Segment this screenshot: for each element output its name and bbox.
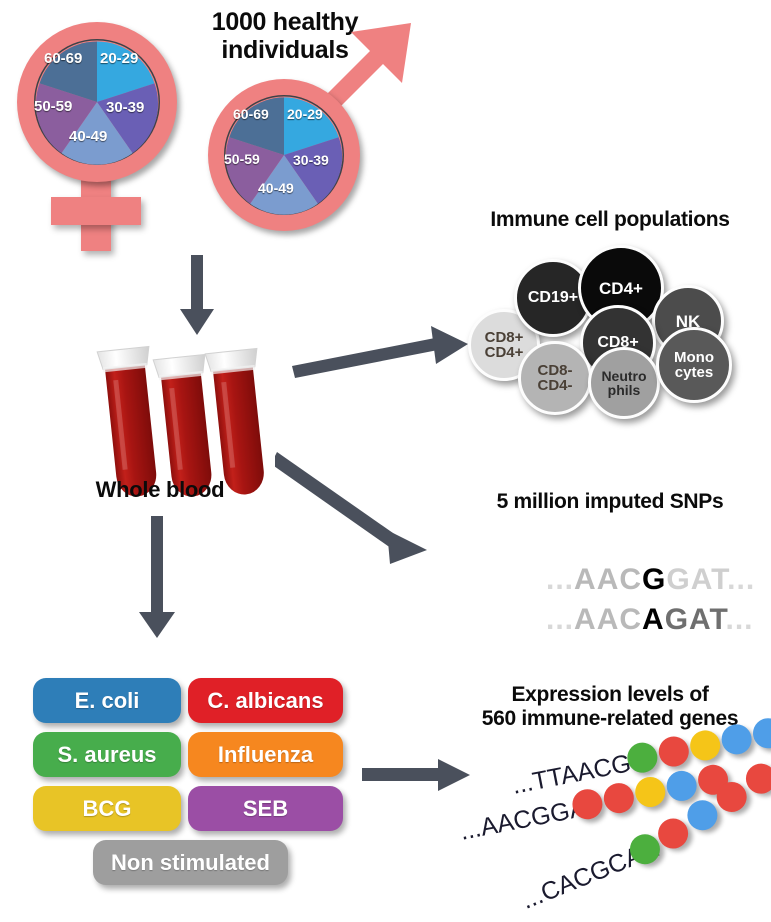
figure-canvas: 1000 healthy individuals 20-29 30-39 40-… [0,0,771,922]
female-wedge-label-20-29: 20-29 [100,50,138,67]
snp2-right: GAT [665,603,726,636]
male-wedge-label-20-29: 20-29 [287,106,323,122]
blood-tube-3 [205,348,272,497]
snp2-prefix: ... [546,603,574,636]
cell-cd19p-label: CD19+ [528,290,578,306]
cell-monocytes-line2: cytes [674,365,714,380]
female-wedge-label-60-69: 60-69 [44,50,82,67]
stimulus-influenza[interactable]: Influenza [188,732,343,777]
male-wedge-label-30-39: 30-39 [293,152,329,168]
expression-strands: ...TTAACGG ...AACGGAT ...CACGCAA [440,740,771,920]
stimulus-non-stimulated[interactable]: Non stimulated [93,840,288,885]
expression-strand-2-bead-2 [601,781,636,816]
snp2-left: AAC [574,603,642,636]
cell-neutrophils-line1: Neutro [601,369,646,383]
stimulus-seb[interactable]: SEB [188,786,343,831]
stimulation-panel: E. coli C. albicans S. aureus Influenza … [33,678,343,893]
snp-sequence-row-2: ...AACAGAT... [490,569,754,671]
female-wedge-label-40-49: 40-49 [69,128,107,145]
female-wedge-label-50-59: 50-59 [34,98,72,115]
cell-cd8n-cd4n-line1: CD8- [537,363,572,378]
expression-strand-1-bead-3 [688,728,723,763]
cell-cd4p-label: CD4+ [599,280,643,297]
male-wedge-label-50-59: 50-59 [224,151,260,167]
cell-neutrophils: Neutro phils [588,347,660,419]
immune-cell-cluster: CD8+ CD4+ CD19+ CD4+ NK CD8+ CD8- CD4- [460,243,760,413]
expression-strand-2-bead-4 [664,768,699,803]
arrow-blood-to-immune [290,322,475,392]
stimulus-s-aureus-label: S. aureus [57,742,156,768]
cell-cd8n-cd4n-line2: CD4- [537,378,572,393]
stimulus-c-albicans-label: C. albicans [207,688,323,714]
female-wedge-label-30-39: 30-39 [106,99,144,116]
expression-strand-2-bead-3 [633,774,668,809]
stimulus-e-coli[interactable]: E. coli [33,678,181,723]
stimulus-bcg[interactable]: BCG [33,786,181,831]
stimulus-influenza-label: Influenza [218,742,313,768]
cell-monocytes: Mono cytes [656,327,732,403]
stimulus-bcg-label: BCG [83,796,132,822]
expression-strand-3-bead-3 [683,796,722,835]
cell-monocytes-line1: Mono [674,350,714,365]
stimulus-e-coli-label: E. coli [75,688,140,714]
female-symbol: 20-29 30-39 40-49 50-59 60-69 [8,10,198,260]
male-wedge-label-40-49: 40-49 [258,180,294,196]
male-wedge-label-60-69: 60-69 [233,106,269,122]
snp-sequence-block: ...AACGGAT... ...AACAGAT... [490,525,740,615]
arrow-blood-to-stimuli [132,516,182,641]
stimulus-non-stimulated-label: Non stimulated [111,850,270,876]
stimulus-c-albicans[interactable]: C. albicans [188,678,343,723]
whole-blood-label: Whole blood [60,478,260,503]
arrow-cohort-to-blood [172,255,222,337]
snp2-suffix: ... [725,603,753,636]
expression-title: Expression levels of 560 immune-related … [450,683,770,730]
cell-cd8p-cd4p-line1: CD8+ [485,330,524,345]
expression-title-line2: 560 immune-related genes [450,707,770,731]
cell-cd8p-cd4p-line2: CD4+ [485,345,524,360]
stimulus-s-aureus[interactable]: S. aureus [33,732,181,777]
male-symbol: 20-29 30-39 40-49 50-59 60-69 [200,65,420,265]
cell-cd8n-cd4n: CD8- CD4- [518,341,592,415]
immune-title: Immune cell populations [450,208,770,232]
female-symbol-crossbar [51,197,141,225]
expression-title-line1: Expression levels of [450,683,770,707]
snps-title: 5 million imputed SNPs [455,490,765,514]
snp2-variant: A [642,603,665,636]
cell-neutrophils-line2: phils [601,383,646,397]
stimulus-seb-label: SEB [243,796,288,822]
arrow-blood-to-snps [275,448,440,583]
expression-strand-1-bead-2 [656,734,691,769]
